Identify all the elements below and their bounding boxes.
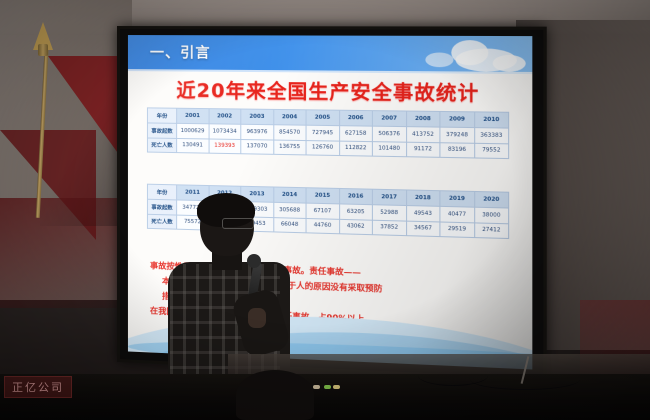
- table-cell: 112822: [339, 141, 372, 157]
- table-cell: 67107: [306, 203, 339, 219]
- table-body: 事故起数100062910734349639768545707279456271…: [147, 123, 508, 159]
- table-column-header: 2007: [372, 111, 406, 127]
- table-cell: 91172: [406, 142, 440, 158]
- table-column-header: 2008: [406, 111, 440, 127]
- table-column-header: 2016: [339, 188, 372, 204]
- table-corner-label: 年份: [147, 108, 176, 123]
- table-cell: 83196: [440, 142, 474, 158]
- table-cell: 44760: [306, 218, 339, 234]
- slide-section-label: 一、引言: [150, 42, 211, 62]
- statistics-table-first-decade: 年份20012002200320042005200620072008200920…: [147, 107, 509, 159]
- table-row-label: 死亡人数: [147, 138, 176, 153]
- table-cell: 27412: [474, 222, 508, 238]
- microphone-head-icon: [247, 254, 261, 268]
- table-cell: 854570: [273, 125, 306, 141]
- table-cell: 130491: [177, 138, 209, 153]
- table-cell: 136755: [273, 140, 306, 156]
- table-column-header: 2017: [372, 189, 406, 205]
- table-column-header: 2018: [406, 190, 440, 206]
- table-cell: 137070: [241, 139, 273, 155]
- table-cell: 43062: [339, 219, 372, 235]
- table-column-header: 2006: [339, 110, 372, 126]
- slide-title: 近20年来全国生产安全事故统计: [128, 75, 532, 107]
- cloud-icon: [425, 52, 453, 67]
- watermark-logo: 正亿公司: [4, 376, 72, 398]
- presenter-hand: [248, 308, 266, 328]
- table-cell: 727945: [306, 125, 339, 141]
- table-row-label: 事故起数: [147, 123, 176, 138]
- table-cell: 139393: [209, 139, 241, 155]
- table-cell: 379248: [440, 127, 474, 143]
- table-cell: 34567: [406, 221, 440, 237]
- table-cell: 37852: [372, 220, 406, 236]
- table-cell: 126760: [306, 140, 339, 156]
- cloud-icon: [493, 55, 526, 72]
- table-column-header: 2015: [306, 188, 339, 204]
- table-cell: 101480: [372, 141, 406, 157]
- table-column-header: 2001: [177, 108, 209, 123]
- table-column-header: 2010: [474, 112, 508, 128]
- eyeglasses-icon: [222, 218, 254, 229]
- table-cell: 40477: [440, 206, 474, 222]
- slide-header-band: 一、引言: [128, 35, 532, 74]
- table-cell: 49543: [406, 205, 440, 221]
- table-column-header: 2003: [241, 109, 273, 124]
- cloud-icon: [451, 40, 488, 65]
- table-column-header: 2002: [209, 109, 241, 124]
- audience-head: [236, 370, 314, 420]
- table-cell: 52988: [372, 204, 406, 220]
- indicator-light: [324, 385, 331, 389]
- conference-room-scene: 一、引言 近20年来全国生产安全事故统计 年份20012002200320042…: [0, 0, 650, 420]
- table-cell: 29519: [440, 222, 474, 238]
- table-column-header: 2019: [440, 191, 474, 207]
- table-column-header: 2020: [474, 191, 508, 207]
- flag-collar: [38, 44, 48, 56]
- indicator-light: [313, 385, 320, 389]
- table-cell: 38000: [474, 207, 508, 223]
- table-cell: 506376: [372, 126, 406, 142]
- indicator-light: [333, 385, 340, 389]
- table-cell: 363383: [474, 127, 508, 143]
- table-cell: 413752: [406, 126, 440, 142]
- table-cell: 63205: [339, 204, 372, 220]
- table-column-header: 2009: [440, 111, 474, 127]
- table-cell: 627158: [339, 125, 372, 141]
- table-cell: 963976: [241, 124, 273, 140]
- table-cell: 79552: [474, 143, 508, 159]
- table-cell: 1000629: [177, 123, 209, 138]
- table-cell: 1073434: [209, 124, 241, 139]
- table-column-header: 2005: [306, 110, 339, 126]
- table-column-header: 2004: [273, 109, 306, 125]
